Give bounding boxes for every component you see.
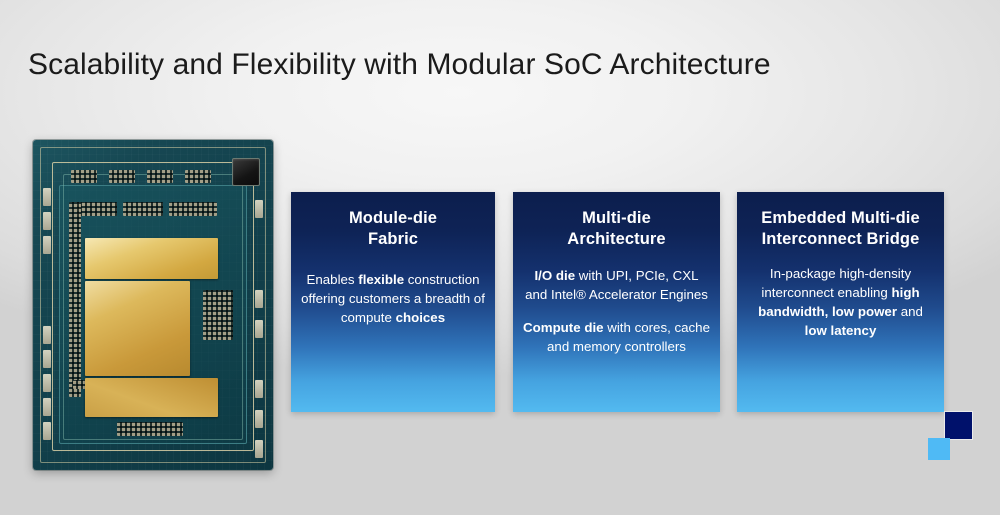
chip-capacitor-bank: [169, 202, 217, 216]
chip-edge-pad: [255, 380, 263, 398]
chip-black-component: [232, 158, 260, 186]
card-title-line2: Fabric: [301, 229, 485, 250]
card-title: Module-die Fabric: [301, 208, 485, 250]
card-paragraph: I/O die with UPI, PCIe, CXL and Intel® A…: [523, 266, 710, 304]
card-paragraph: In-package high-density interconnect ena…: [747, 264, 934, 340]
chip-edge-pad: [43, 326, 51, 344]
page-title: Scalability and Flexibility with Modular…: [28, 48, 771, 82]
chip-capacitor-bank: [71, 170, 97, 183]
chip-die-center: [85, 281, 190, 376]
chip-capacitor-bank: [117, 422, 183, 436]
chip-edge-pad: [255, 440, 263, 458]
chip-capacitor-bank: [109, 170, 135, 183]
chip-die-bottom: [85, 378, 218, 417]
emphasis-text: choices: [396, 310, 446, 325]
chip-edge-pad: [43, 236, 51, 254]
feature-card-multi-die-architecture[interactable]: Multi-die Architecture I/O die with UPI,…: [513, 192, 720, 412]
emphasis-text: flexible: [358, 272, 404, 287]
navy-square-decoration: [945, 412, 972, 439]
chip-edge-pad: [43, 350, 51, 368]
blue-square-decoration: [928, 438, 950, 460]
card-paragraph: Enables flexible construction offering c…: [301, 270, 485, 327]
chip-edge-pad: [255, 200, 263, 218]
chip-capacitor-bank: [69, 202, 81, 397]
card-body: I/O die with UPI, PCIe, CXL and Intel® A…: [523, 266, 710, 356]
body-text: In-package high-density interconnect ena…: [761, 266, 911, 300]
chip-edge-pad: [43, 422, 51, 440]
chip-edge-pad: [255, 320, 263, 338]
emphasis-text: Compute die: [523, 320, 604, 335]
soc-package-image: [33, 140, 273, 470]
chip-edge-pad: [255, 410, 263, 428]
body-text: Enables: [307, 272, 359, 287]
chip-capacitor-bank: [123, 202, 163, 216]
chip-capacitor-bank: [185, 170, 211, 183]
card-title: Multi-die Architecture: [523, 208, 710, 250]
chip-capacitor-bank: [147, 170, 173, 183]
emphasis-text: low power: [832, 304, 897, 319]
card-title-line1: Multi-die: [523, 208, 710, 229]
chip-edge-pad: [43, 188, 51, 206]
chip-edge-pad: [43, 398, 51, 416]
chip-edge-pad: [255, 290, 263, 308]
chip-edge-pad: [43, 212, 51, 230]
card-title-line1: Embedded Multi-die: [747, 208, 934, 229]
chip-edge-pad: [43, 374, 51, 392]
feature-card-module-die-fabric[interactable]: Module-die Fabric Enables flexible const…: [291, 192, 495, 412]
chip-die-top: [85, 238, 218, 279]
card-body: Enables flexible construction offering c…: [301, 270, 485, 327]
card-body: In-package high-density interconnect ena…: [747, 264, 934, 340]
card-paragraph: Compute die with cores, cache and memory…: [523, 318, 710, 356]
chip-capacitor-bank: [203, 290, 233, 340]
body-text: and: [897, 304, 923, 319]
card-title-line1: Module-die: [301, 208, 485, 229]
slide-canvas: Scalability and Flexibility with Modular…: [0, 0, 1000, 515]
emphasis-text: I/O die: [534, 268, 575, 283]
card-title-line2: Interconnect Bridge: [747, 229, 934, 250]
card-title-line2: Architecture: [523, 229, 710, 250]
feature-card-embedded-multi-die-interconnect-bridge[interactable]: Embedded Multi-die Interconnect Bridge I…: [737, 192, 944, 412]
emphasis-text: low latency: [805, 323, 877, 338]
chip-capacitor-bank: [77, 202, 117, 216]
card-title: Embedded Multi-die Interconnect Bridge: [747, 208, 934, 250]
